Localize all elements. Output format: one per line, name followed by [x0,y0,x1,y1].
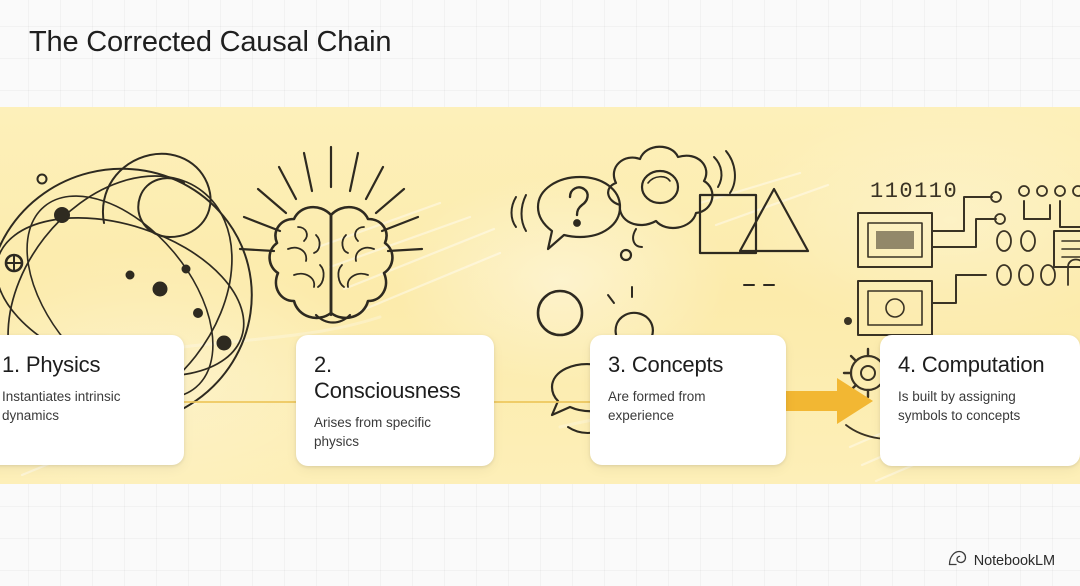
step-card-description: Arises from specific physics [314,413,476,451]
arrow-concepts-to-computation [779,378,875,424]
step-card-title: 4. Computation [898,352,1062,378]
connector-consciousness-to-concepts [488,401,602,403]
illustration-banner: 110110 [0,107,1080,484]
notebooklm-brand-text: NotebookLM [974,553,1055,569]
step-card-description: Is built by assigning symbols to concept… [898,387,1062,425]
step-card-title: 2. Consciousness [314,352,476,404]
step-card-title: 3. Concepts [608,352,768,378]
notebooklm-spiral-icon [948,550,967,571]
notebooklm-brand: NotebookLM [948,550,1055,571]
title-bar: The Corrected Causal Chain [0,0,1080,107]
step-card-consciousness[interactable]: 2. Consciousness Arises from specific ph… [296,335,494,466]
slide-canvas: The Corrected Causal Chain [0,0,1080,586]
step-card-concepts[interactable]: 3. Concepts Are formed from experience [590,335,786,465]
step-card-description: Instantiates intrinsic dynamics [2,387,166,425]
connector-physics-to-consciousness [176,401,312,403]
step-card-description: Are formed from experience [608,387,768,425]
step-card-title: 1. Physics [2,352,166,378]
step-card-physics[interactable]: 1. Physics Instantiates intrinsic dynami… [0,335,184,465]
step-card-computation[interactable]: 4. Computation Is built by assigning sym… [880,335,1080,466]
page-title: The Corrected Causal Chain [29,26,391,59]
